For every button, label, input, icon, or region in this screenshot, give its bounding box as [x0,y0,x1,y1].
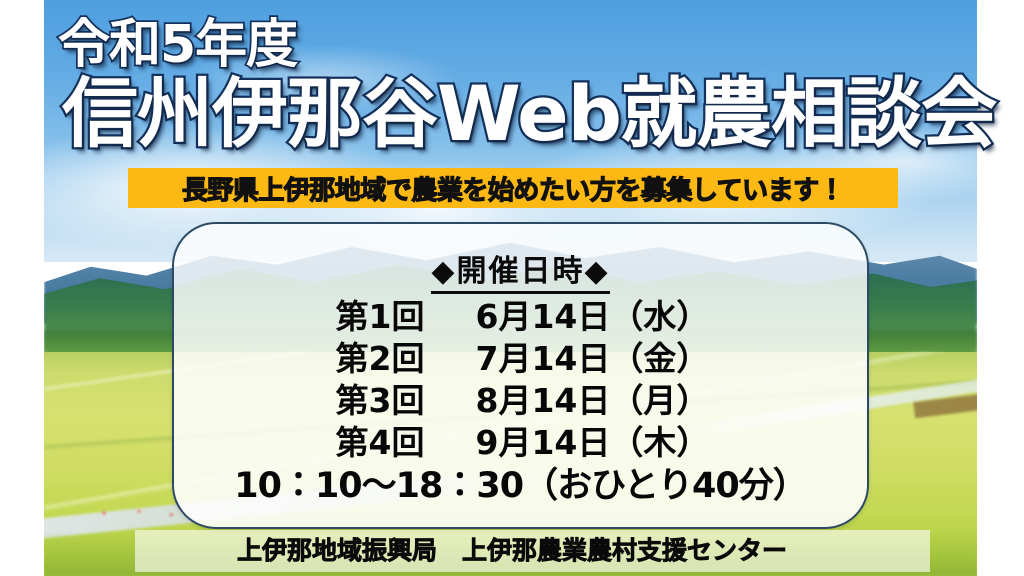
session-label: 第3回 [336,374,476,422]
recruitment-banner-text: 長野県上伊那地域で農業を始めたい方を募集しています！ [182,170,844,207]
schedule-row: 第2回 7月14日（金） [174,332,867,374]
recruitment-banner: 長野県上伊那地域で農業を始めたい方を募集しています！ [128,168,898,208]
session-label: 第2回 [336,332,476,380]
schedule-card-heading: ◆開催日時◆ [174,246,867,294]
schedule-heading-text: ◆開催日時◆ [431,246,609,294]
schedule-row: 第4回 9月14日（木） [174,416,867,458]
schedule-row: 第1回 6月14日（水） [174,290,867,332]
session-date: 7月14日（金） [476,332,706,380]
schedule-row: 第3回 8月14日（月） [174,374,867,416]
poster-root: 令和5年度 信州伊那谷Web就農相談会 長野県上伊那地域で農業を始めたい方を募集… [0,0,1024,576]
session-label: 第1回 [336,290,476,338]
fiscal-year-title: 令和5年度 [58,14,297,76]
consultation-time-note: 10：10～18：30（おひとり40分） [174,457,867,508]
event-title: 信州伊那谷Web就農相談会 [62,70,996,158]
schedule-card: ◆開催日時◆ 第1回 6月14日（水） 第2回 7月14日（金） 第3回 8月1… [172,222,869,529]
organizer-names: 上伊那地域振興局 上伊那農業農村支援センター [0,532,1024,570]
session-date: 8月14日（月） [476,374,706,422]
session-date: 6月14日（水） [476,290,706,338]
schedule-list: 第1回 6月14日（水） 第2回 7月14日（金） 第3回 8月14日（月） 第… [174,290,867,458]
